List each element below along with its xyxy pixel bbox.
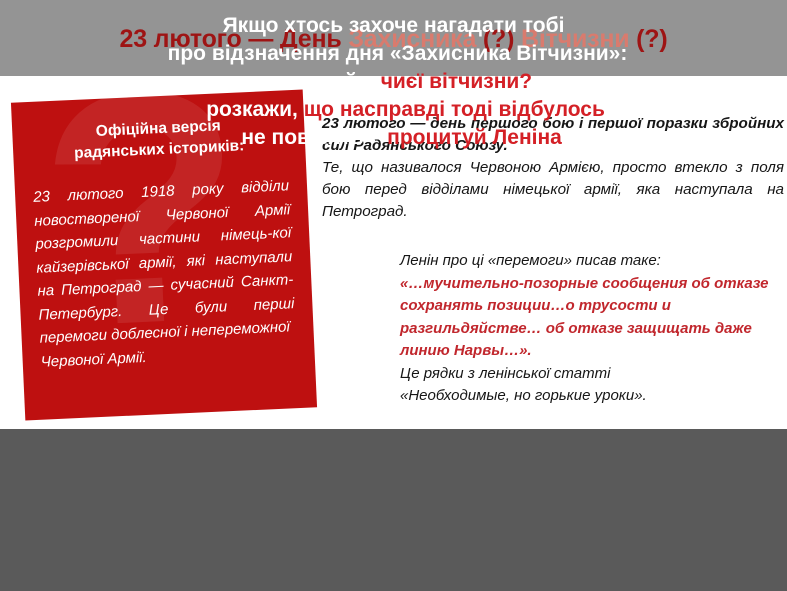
slide-canvas: 23 лютого — День Захисника (?) Вітчизни … bbox=[0, 0, 787, 591]
lenin-quote-block: Ленін про ці «перемоги» писав таке: «…му… bbox=[400, 250, 784, 408]
lenin-quote-text: «…мучительно-позорные сообщения об отказ… bbox=[400, 273, 784, 363]
footer-line-3-white: запитай – bbox=[275, 70, 381, 93]
footer-line-3-tail: , bbox=[532, 70, 538, 93]
footer-line-4-tail: , bbox=[605, 98, 611, 121]
red-panel-body: 23 лютого 1918 року відділи новостворено… bbox=[33, 174, 297, 373]
footer-line-3-red: чиєї вітчизни? bbox=[381, 70, 532, 93]
red-panel-body-text: 23 лютого 1918 року відділи новостворено… bbox=[33, 177, 295, 346]
intro-body-sentence: Те, що називалося Червоною Армією, прост… bbox=[322, 157, 784, 223]
right-text-column: 23 лютого — день першого бою і першої по… bbox=[322, 113, 784, 408]
footer-call-to-action: Якщо хтось захоче нагадати тобі про відз… bbox=[0, 12, 787, 152]
footer-band bbox=[0, 429, 787, 591]
footer-line-4-white: розкажи, bbox=[206, 98, 303, 121]
footer-line-3: запитай – чиєї вітчизни?, bbox=[0, 68, 787, 96]
footer-line-1: Якщо хтось захоче нагадати тобі bbox=[0, 12, 787, 40]
footer-line-2: про відзначення дня «Захисника Вітчизни»… bbox=[0, 40, 787, 68]
lenin-source-line-1: Це рядки з ленінської статті bbox=[400, 363, 784, 386]
footer-line-5-white: не повірять – bbox=[241, 126, 387, 149]
lenin-lead-in: Ленін про ці «перемоги» писав таке: bbox=[400, 250, 784, 273]
footer-line-5: не повірять – процитуй Леніна. bbox=[0, 124, 787, 152]
lenin-source-line-2: «Необходимые, но горькие уроки». bbox=[400, 387, 647, 404]
footer-line-4-red: що насправді тоді відбулось bbox=[304, 98, 605, 121]
footer-line-5-red: процитуй Леніна bbox=[387, 126, 562, 149]
footer-line-5-tail: . bbox=[562, 126, 568, 149]
footer-line-4: розкажи, що насправді тоді відбулось, bbox=[0, 96, 787, 124]
